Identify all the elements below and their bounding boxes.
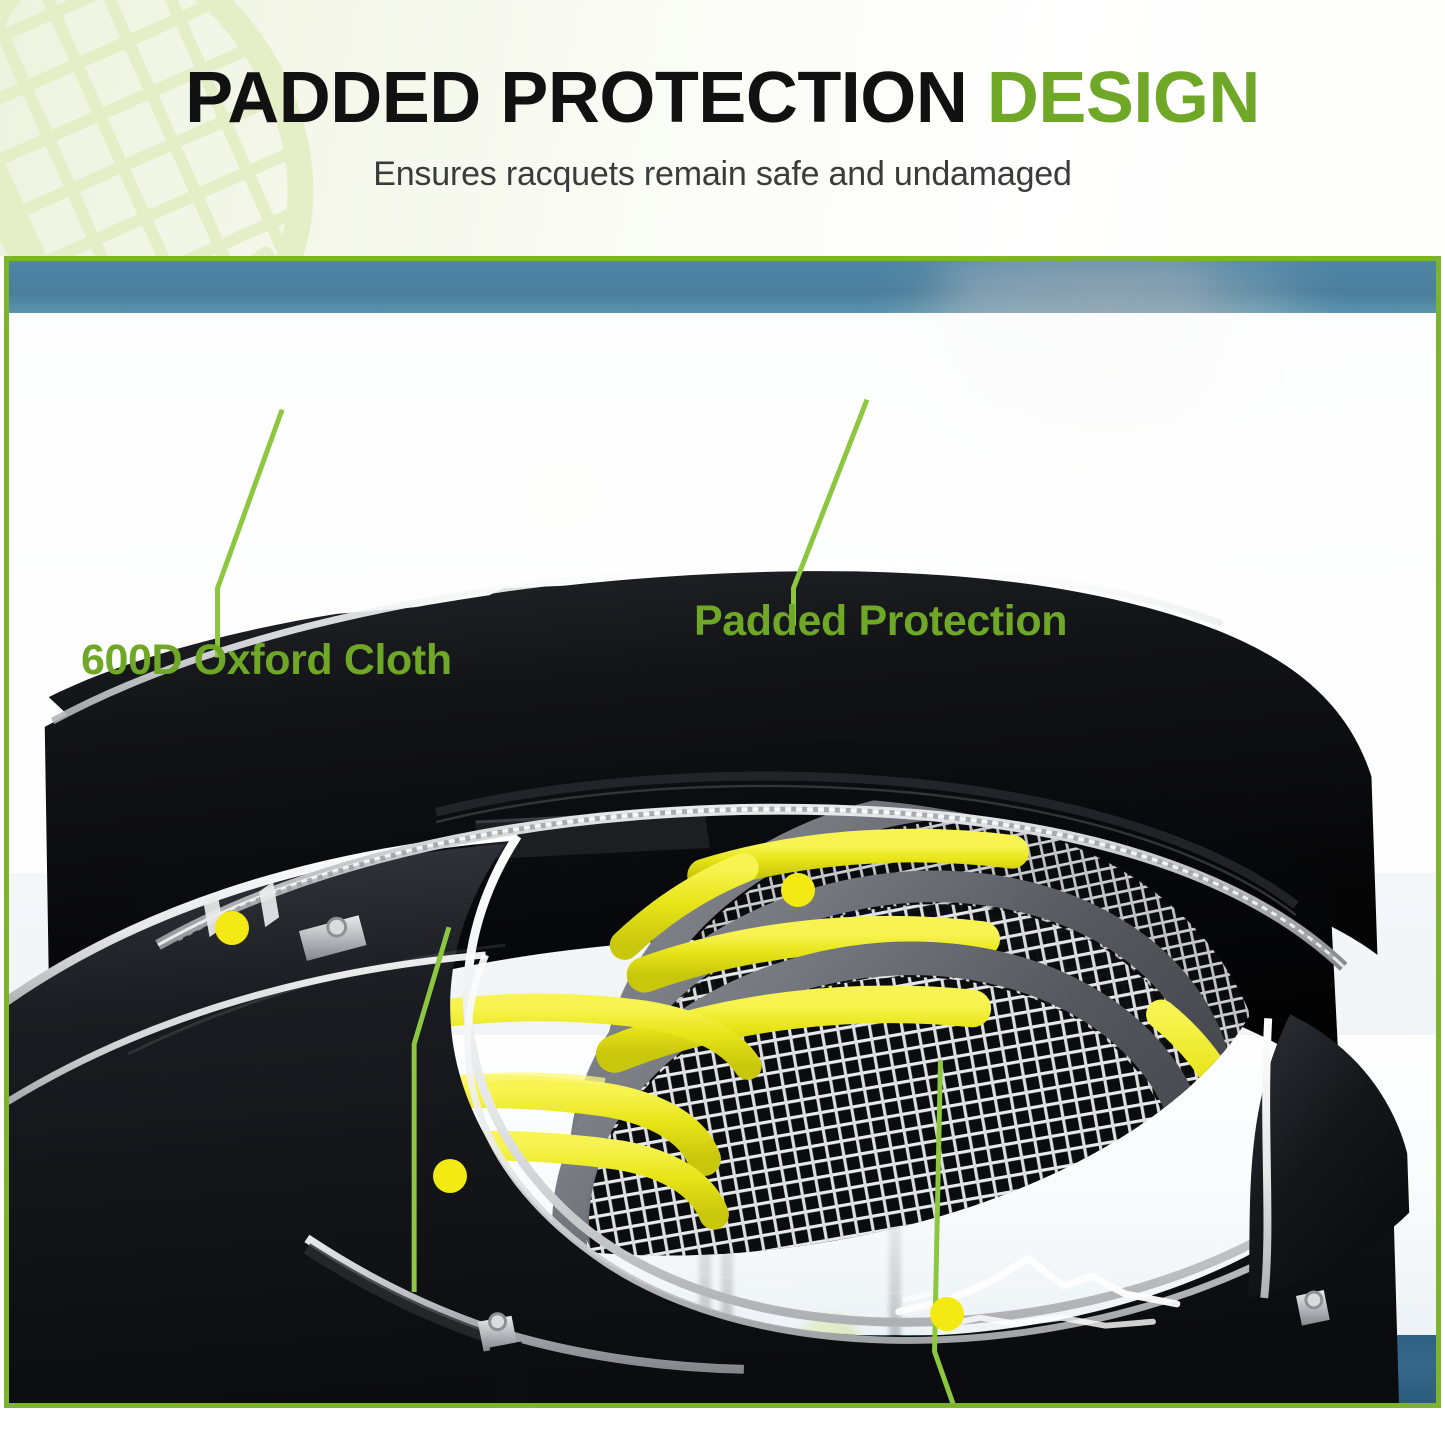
page-title-accent: DESIGN [987,58,1260,138]
product-photo-panel: 600D Oxford Cloth Padded Protection Hold… [4,256,1441,1408]
callout-label-oxford: 600D Oxford Cloth [81,636,452,685]
callout-marker-padded[interactable] [781,873,815,907]
leader-line-oxford [218,410,283,658]
callout-marker-holds[interactable] [433,1159,467,1193]
product-photo: 600D Oxford Cloth Padded Protection Hold… [9,261,1436,1403]
leader-line-water [935,1060,995,1403]
callout-leader-lines [9,261,1436,1403]
page-subtitle: Ensures racquets remain safe and undamag… [0,155,1445,194]
leader-line-holds [414,927,449,1292]
callout-marker-water[interactable] [930,1297,964,1331]
page-title: PADDED PROTECTION DESIGN [0,62,1445,134]
header-banner: PADDED PROTECTION DESIGN Ensures racquet… [0,0,1445,256]
callout-label-padded: Padded Protection [694,597,1067,646]
leader-line-padded [794,400,867,626]
page-title-main: PADDED PROTECTION [185,58,967,138]
callout-marker-oxford[interactable] [215,911,249,945]
